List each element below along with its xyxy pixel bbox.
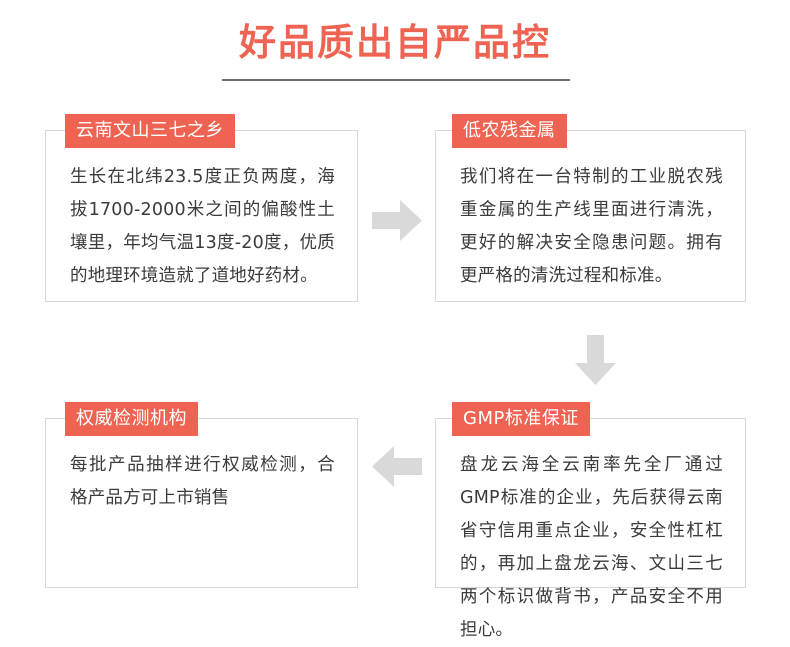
arrow-right-icon	[372, 200, 422, 241]
card-origin-badge: 云南文山三七之乡	[65, 114, 235, 148]
card-gmp: GMP标准保证 盘龙云海全云南率先全厂通过GMP标准的企业，先后获得云南省守信用…	[435, 418, 746, 588]
card-origin: 云南文山三七之乡 生长在北纬23.5度正负两度，海拔1700-2000米之间的偏…	[45, 130, 358, 302]
card-residue-body: 我们将在一台特制的工业脱农残重金属的生产线里面进行清洗，更好的解决安全隐患问题。…	[436, 161, 745, 293]
title-underline-divider	[222, 79, 570, 81]
arrow-down-icon	[575, 335, 616, 385]
card-inspection-badge: 权威检测机构	[65, 402, 198, 436]
card-residue: 低农残金属 我们将在一台特制的工业脱农残重金属的生产线里面进行清洗，更好的解决安…	[435, 130, 746, 302]
quality-control-infographic: 好品质出自严品控 云南文山三七之乡 生长在北纬23.5度正负两度，海拔1700-…	[0, 0, 790, 624]
page-header: 好品质出自严品控	[0, 18, 790, 74]
card-gmp-body: 盘龙云海全云南率先全厂通过GMP标准的企业，先后获得云南省守信用重点企业，安全性…	[436, 449, 745, 647]
card-inspection: 权威检测机构 每批产品抽样进行权威检测，合格产品方可上市销售	[45, 418, 358, 588]
card-inspection-body: 每批产品抽样进行权威检测，合格产品方可上市销售	[46, 449, 357, 515]
page-title: 好品质出自严品控	[233, 18, 557, 74]
card-residue-badge: 低农残金属	[452, 114, 567, 148]
card-origin-body: 生长在北纬23.5度正负两度，海拔1700-2000米之间的偏酸性土壤里，年均气…	[46, 161, 357, 293]
card-gmp-badge: GMP标准保证	[452, 402, 590, 436]
arrow-left-icon	[372, 446, 422, 487]
